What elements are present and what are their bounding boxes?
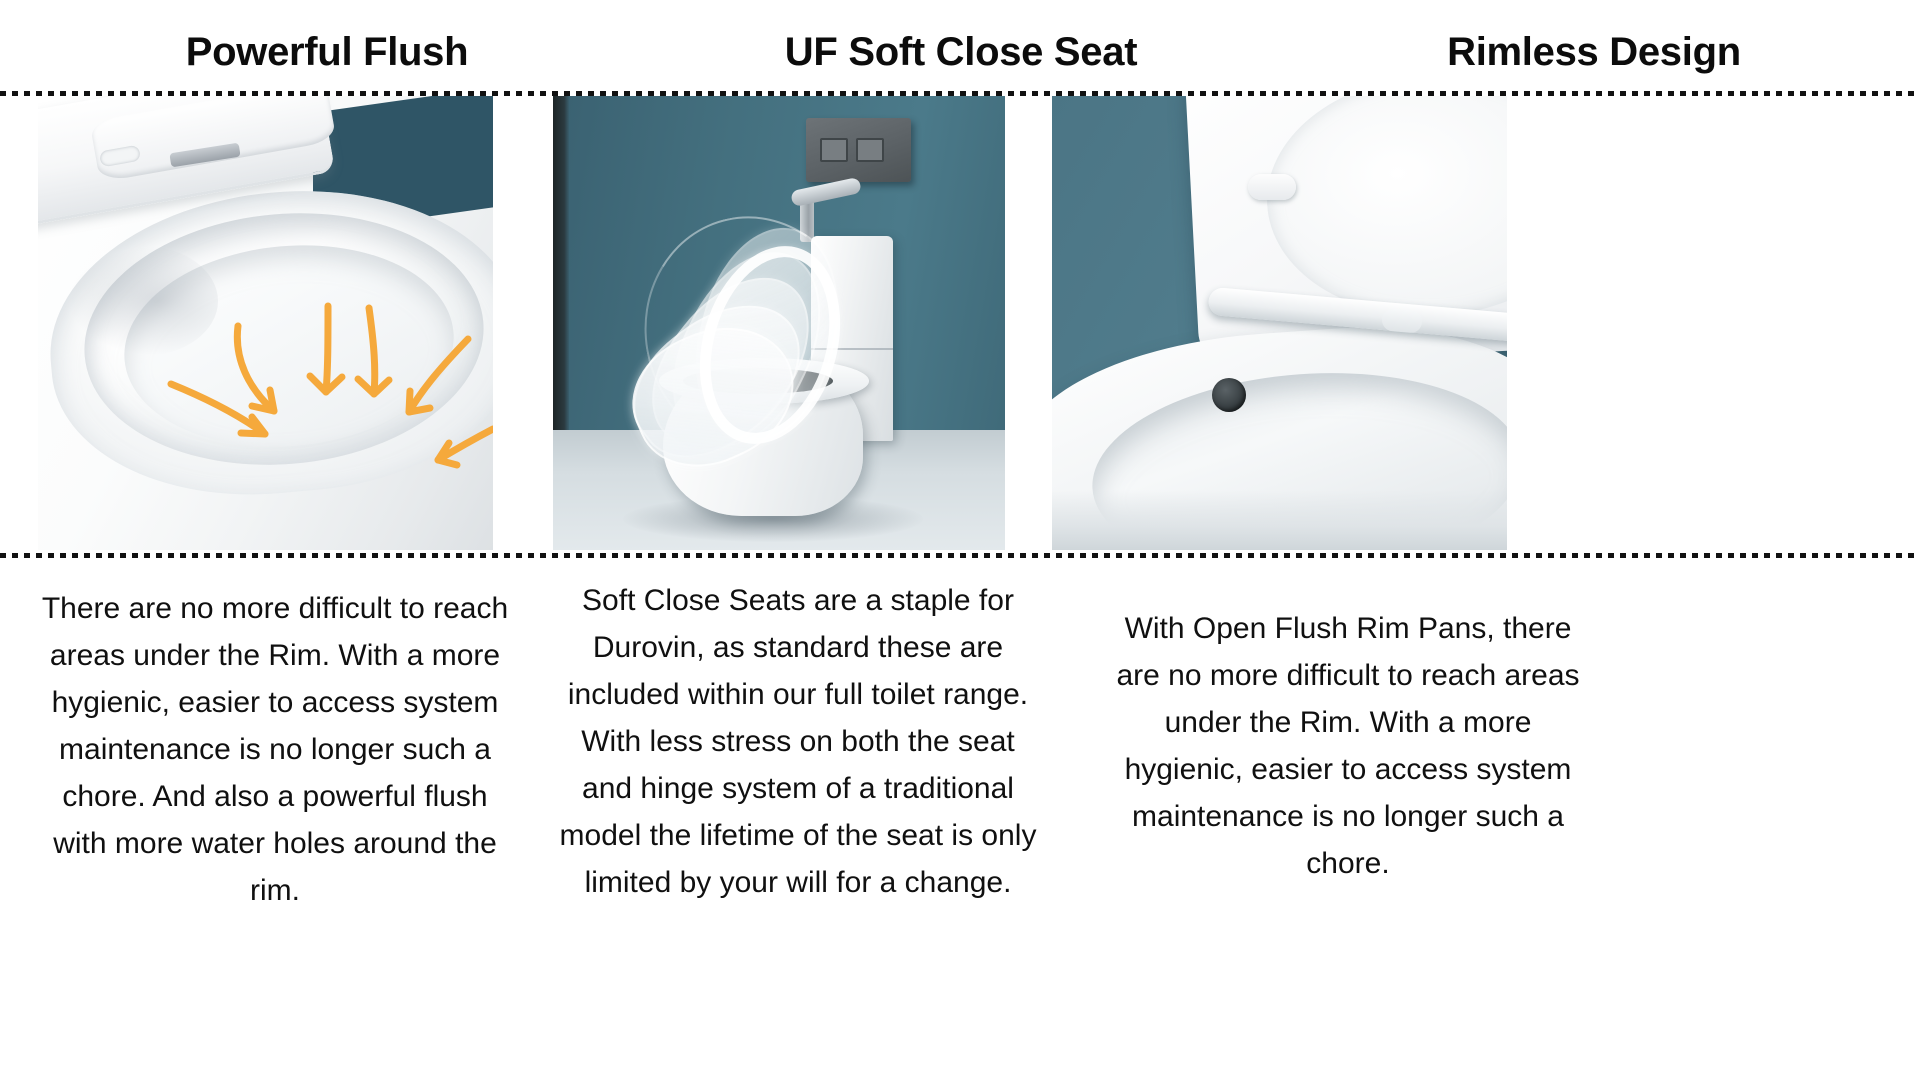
panel-image-row [0, 96, 1920, 550]
page-title-rimless-design: Rimless Design [1447, 32, 1741, 72]
caption-uf-soft-close-seat: Soft Close Seats are a staple for Durovi… [558, 577, 1038, 1065]
panel-caption-cell-2: Soft Close Seats are a staple for Durovi… [548, 565, 1048, 1065]
flush-button-large [820, 138, 848, 162]
panel-title-cell-2: UF Soft Close Seat [654, 0, 1268, 93]
panel-title-cell-1: Powerful Flush [0, 0, 654, 93]
lid-bumper [1248, 174, 1296, 200]
feature-comparison-page: Powerful Flush UF Soft Close Seat Rimles… [0, 0, 1920, 1080]
seat-hinge-knob [1381, 308, 1423, 333]
panel-caption-cell-1: There are no more difficult to reach are… [10, 565, 540, 1065]
soft-close-seat-motion-photo [553, 96, 1005, 550]
flush-button-small [856, 138, 884, 162]
panel-caption-cell-3: With Open Flush Rim Pans, there are no m… [1088, 565, 1608, 1065]
panel-title-row: Powerful Flush UF Soft Close Seat Rimles… [0, 0, 1920, 93]
water-flow-arrows-icon [38, 96, 493, 550]
rimless-pan-open-lid-photo [1052, 96, 1507, 550]
caption-powerful-flush: There are no more difficult to reach are… [40, 585, 510, 1065]
dotted-divider-bottom [0, 553, 1920, 558]
wall-corner-shadow [553, 96, 569, 466]
flush-water-hole [1212, 378, 1246, 412]
panel-title-cell-3: Rimless Design [1268, 0, 1920, 93]
panel-caption-row: There are no more difficult to reach are… [0, 565, 1920, 1065]
caption-rimless-design: With Open Flush Rim Pans, there are no m… [1113, 605, 1583, 1065]
dual-flush-plate [806, 118, 911, 182]
rimless-bowl-flush-arrows-photo [38, 96, 493, 550]
page-title-powerful-flush: Powerful Flush [186, 32, 468, 72]
pan-bottom-highlight [1052, 490, 1507, 550]
page-title-uf-soft-close-seat: UF Soft Close Seat [785, 32, 1137, 72]
